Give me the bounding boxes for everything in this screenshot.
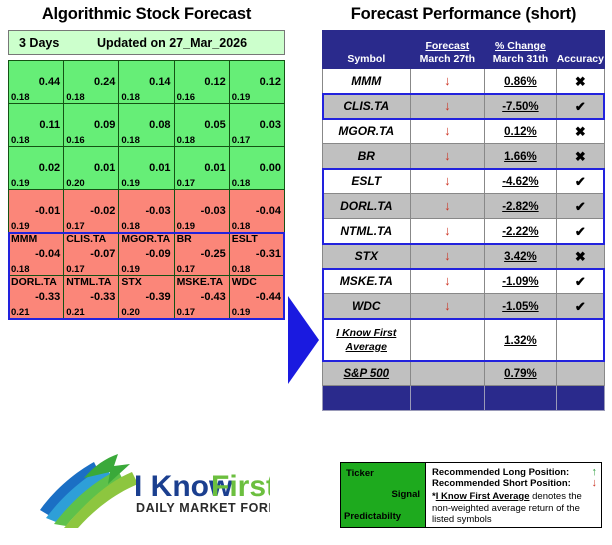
- heatmap-row: 0.110.180.090.160.080.180.050.180.030.17: [9, 104, 285, 147]
- svg-text:DAILY MARKET FORECAST: DAILY MARKET FORECAST: [136, 501, 270, 515]
- cell-predictability: 0.18: [11, 92, 30, 103]
- row-accuracy-icon: ✔: [556, 219, 604, 244]
- cell-predictability: 0.19: [177, 221, 196, 232]
- cell-signal: -0.09: [145, 248, 170, 260]
- row-change: -2.82%: [485, 194, 557, 219]
- heatmap-row: DORL.TA-0.330.21NTML.TA-0.330.21STX-0.39…: [9, 276, 285, 319]
- forecast-down-arrow-icon: ↓: [444, 173, 451, 188]
- cell-predictability: 0.18: [232, 264, 251, 275]
- table-row: DORL.TA↓-2.82%✔: [323, 194, 605, 219]
- cell-predictability: 0.18: [121, 135, 140, 146]
- heatmap-row: -0.010.19-0.020.17-0.030.18-0.030.19-0.0…: [9, 190, 285, 233]
- benchmark-change: 0.79%: [485, 361, 557, 386]
- cell-signal: -0.25: [201, 248, 226, 260]
- row-accuracy-icon: ✖: [556, 144, 604, 169]
- benchmark-row: S&P 5000.79%: [323, 361, 605, 386]
- cell-ticker: DORL.TA: [11, 276, 57, 288]
- table-row: NTML.TA↓-2.22%✔: [323, 219, 605, 244]
- i-know-first-logo: I Know First DAILY MARKET FORECAST: [38, 452, 270, 530]
- heatmap-cell: -0.030.19: [174, 190, 229, 233]
- legend-ticker-label: Ticker: [346, 468, 374, 479]
- cell-predictability: 0.19: [232, 307, 251, 318]
- cell-ticker: NTML.TA: [66, 276, 111, 288]
- heatmap-row: MMM-0.040.18CLIS.TA-0.070.17MGOR.TA-0.09…: [9, 233, 285, 276]
- cell-predictability: 0.17: [177, 264, 196, 275]
- cell-predictability: 0.17: [66, 264, 85, 275]
- row-symbol: BR: [323, 144, 411, 169]
- heatmap-cell: 0.440.18: [9, 61, 64, 104]
- cell-signal: 0.02: [39, 162, 60, 174]
- heatmap-cell: DORL.TA-0.330.21: [9, 276, 64, 319]
- row-change: 3.42%: [485, 244, 557, 269]
- cell-ticker: BR: [177, 233, 192, 245]
- cell-signal: 0.00: [260, 162, 281, 174]
- flow-arrow-icon: [288, 296, 319, 384]
- row-accuracy-icon: ✖: [556, 119, 604, 144]
- row-symbol: NTML.TA: [323, 219, 411, 244]
- row-forecast: ↓: [410, 119, 485, 144]
- table-row: STX↓3.42%✖: [323, 244, 605, 269]
- cell-signal: 0.24: [94, 76, 115, 88]
- benchmark-accuracy: [556, 361, 604, 386]
- heatmap-cell: -0.030.18: [119, 190, 174, 233]
- row-change: 0.12%: [485, 119, 557, 144]
- row-forecast: ↓: [410, 269, 485, 294]
- forecast-performance-panel: Symbol Forecast March 27th % Change Marc…: [322, 30, 605, 411]
- row-forecast: ↓: [410, 244, 485, 269]
- cell-signal: -0.01: [35, 205, 60, 217]
- legend-box: Ticker Signal Predictabilty Recommended …: [340, 462, 602, 528]
- cell-signal: 0.08: [149, 119, 170, 131]
- average-accuracy: [556, 319, 604, 361]
- legend-short-label: Recommended Short Position:: [432, 478, 592, 489]
- cell-predictability: 0.17: [177, 178, 196, 189]
- row-symbol: STX: [323, 244, 411, 269]
- row-forecast: ↓: [410, 144, 485, 169]
- average-change: 1.32%: [485, 319, 557, 361]
- heatmap-cell: 0.120.16: [174, 61, 229, 104]
- cell-signal: -0.31: [256, 248, 281, 260]
- cell-signal: 0.12: [204, 76, 225, 88]
- heatmap-cell: 0.010.19: [119, 147, 174, 190]
- heatmap-cell: 0.030.17: [229, 104, 284, 147]
- cell-predictability: 0.18: [121, 92, 140, 103]
- row-accuracy-icon: ✔: [556, 169, 604, 194]
- row-accuracy-icon: ✔: [556, 94, 604, 119]
- cell-signal: 0.14: [149, 76, 170, 88]
- average-row: I Know FirstAverage1.32%: [323, 319, 605, 361]
- right-panel-title: Forecast Performance (short): [322, 5, 605, 24]
- table-row: MMM↓0.86%✖: [323, 69, 605, 94]
- heatmap-cell: 0.050.18: [174, 104, 229, 147]
- forecast-horizon-label: 3 Days: [9, 36, 97, 50]
- cell-signal: -0.02: [90, 205, 115, 217]
- cell-signal: 0.09: [94, 119, 115, 131]
- legend-predictability-label: Predictabilty: [344, 511, 401, 522]
- row-accuracy-icon: ✔: [556, 269, 604, 294]
- forecast-down-arrow-icon: ↓: [444, 298, 451, 313]
- row-accuracy-icon: ✔: [556, 294, 604, 319]
- cell-ticker: CLIS.TA: [66, 233, 106, 245]
- forecast-down-arrow-icon: ↓: [444, 223, 451, 238]
- cell-predictability: 0.19: [121, 264, 140, 275]
- forecast-down-arrow-icon: ↓: [444, 123, 451, 138]
- heatmap-row: 0.440.180.240.180.140.180.120.160.120.19: [9, 61, 285, 104]
- cell-signal: 0.05: [204, 119, 225, 131]
- cell-signal: 0.12: [260, 76, 281, 88]
- cell-predictability: 0.18: [66, 92, 85, 103]
- cell-signal: 0.44: [39, 76, 60, 88]
- table-header-row: Symbol Forecast March 27th % Change Marc…: [323, 31, 605, 69]
- heatmap-cell: NTML.TA-0.330.21: [64, 276, 119, 319]
- cell-predictability: 0.18: [121, 221, 140, 232]
- row-symbol: MMM: [323, 69, 411, 94]
- row-change: -4.62%: [485, 169, 557, 194]
- cell-predictability: 0.19: [232, 92, 251, 103]
- cell-predictability: 0.17: [177, 307, 196, 318]
- cell-ticker: ESLT: [232, 233, 258, 245]
- row-symbol: ESLT: [323, 169, 411, 194]
- legend-cell-key: Ticker Signal Predictabilty: [341, 463, 426, 527]
- cell-predictability: 0.16: [66, 135, 85, 146]
- cell-predictability: 0.19: [121, 178, 140, 189]
- legend-long-label: Recommended Long Position:: [432, 467, 592, 478]
- cell-predictability: 0.18: [11, 264, 30, 275]
- legend-signal-label: Signal: [391, 489, 420, 500]
- heatmap-cell: 0.000.18: [229, 147, 284, 190]
- row-change: 0.86%: [485, 69, 557, 94]
- cell-signal: -0.04: [35, 248, 60, 260]
- cell-predictability: 0.21: [11, 307, 30, 318]
- heatmap-cell: MGOR.TA-0.090.19: [119, 233, 174, 276]
- header-change: % Change March 31th: [485, 31, 557, 69]
- row-change: 1.66%: [485, 144, 557, 169]
- forecast-down-arrow-icon: ↓: [444, 273, 451, 288]
- row-forecast: ↓: [410, 294, 485, 319]
- cell-predictability: 0.19: [11, 178, 30, 189]
- cell-predictability: 0.17: [66, 221, 85, 232]
- forecast-updated-label: Updated on 27_Mar_2026: [97, 36, 247, 50]
- cell-ticker: WDC: [232, 276, 257, 288]
- row-accuracy-icon: ✖: [556, 69, 604, 94]
- cell-predictability: 0.18: [232, 221, 251, 232]
- benchmark-label: S&P 500: [323, 361, 411, 386]
- header-forecast: Forecast March 27th: [410, 31, 485, 69]
- heatmap-row: 0.020.190.010.200.010.190.010.170.000.18: [9, 147, 285, 190]
- cell-signal: -0.07: [90, 248, 115, 260]
- heatmap-cell: 0.240.18: [64, 61, 119, 104]
- cell-predictability: 0.18: [232, 178, 251, 189]
- cell-predictability: 0.18: [177, 135, 196, 146]
- row-forecast: ↓: [410, 169, 485, 194]
- forecast-down-arrow-icon: ↓: [444, 98, 451, 113]
- heatmap-cell: WDC-0.440.19: [229, 276, 284, 319]
- down-arrow-icon: ↓: [592, 478, 598, 489]
- heatmap-cell: STX-0.390.20: [119, 276, 174, 319]
- heatmap-cell: 0.080.18: [119, 104, 174, 147]
- cell-predictability: 0.17: [232, 135, 251, 146]
- forecast-heatmap-table: 0.440.180.240.180.140.180.120.160.120.19…: [8, 60, 285, 319]
- row-accuracy-icon: ✖: [556, 244, 604, 269]
- row-forecast: ↓: [410, 94, 485, 119]
- row-change: -7.50%: [485, 94, 557, 119]
- performance-table: Symbol Forecast March 27th % Change Marc…: [322, 30, 605, 411]
- average-forecast: [410, 319, 485, 361]
- cell-signal: -0.44: [256, 291, 281, 303]
- heatmap-cell: 0.010.20: [64, 147, 119, 190]
- legend-footnote-term: I Know First Average: [436, 491, 530, 502]
- cell-ticker: MGOR.TA: [121, 233, 170, 245]
- cell-predictability: 0.21: [66, 307, 85, 318]
- cell-predictability: 0.18: [11, 135, 30, 146]
- heatmap-cell: 0.120.19: [229, 61, 284, 104]
- heatmap-cell: 0.010.17: [174, 147, 229, 190]
- heatmap-cell: -0.020.17: [64, 190, 119, 233]
- legend-footnote: *I Know First Average denotes the non-we…: [432, 491, 597, 526]
- row-symbol: MSKE.TA: [323, 269, 411, 294]
- cell-signal: -0.03: [145, 205, 170, 217]
- forecast-down-arrow-icon: ↓: [444, 148, 451, 163]
- heatmap-cell: MSKE.TA-0.430.17: [174, 276, 229, 319]
- heatmap-cell: -0.010.19: [9, 190, 64, 233]
- heatmap-cell: 0.020.19: [9, 147, 64, 190]
- cell-signal: 0.11: [39, 119, 60, 131]
- cell-signal: -0.39: [145, 291, 170, 303]
- cell-signal: 0.01: [149, 162, 170, 174]
- row-forecast: ↓: [410, 194, 485, 219]
- average-label: I Know FirstAverage: [323, 319, 411, 361]
- row-change: -1.05%: [485, 294, 557, 319]
- header-symbol: Symbol: [323, 31, 411, 69]
- benchmark-forecast: [410, 361, 485, 386]
- row-forecast: ↓: [410, 219, 485, 244]
- header-accuracy: Accuracy: [556, 31, 604, 69]
- table-footer-band: [323, 386, 605, 411]
- cell-predictability: 0.16: [177, 92, 196, 103]
- cell-signal: -0.33: [90, 291, 115, 303]
- table-row: MGOR.TA↓0.12%✖: [323, 119, 605, 144]
- cell-predictability: 0.20: [121, 307, 140, 318]
- cell-ticker: STX: [121, 276, 141, 288]
- cell-signal: 0.03: [260, 119, 281, 131]
- cell-signal: 0.01: [204, 162, 225, 174]
- table-row: ESLT↓-4.62%✔: [323, 169, 605, 194]
- heatmap-cell: MMM-0.040.18: [9, 233, 64, 276]
- cell-predictability: 0.19: [11, 221, 30, 232]
- row-symbol: DORL.TA: [323, 194, 411, 219]
- row-change: -1.09%: [485, 269, 557, 294]
- cell-signal: -0.03: [201, 205, 226, 217]
- algorithmic-stock-forecast-panel: 3 Days Updated on 27_Mar_2026 0.440.180.…: [8, 30, 285, 319]
- heatmap-cell: 0.090.16: [64, 104, 119, 147]
- heatmap-cell: -0.040.18: [229, 190, 284, 233]
- cell-predictability: 0.20: [66, 178, 85, 189]
- cell-signal: -0.33: [35, 291, 60, 303]
- row-accuracy-icon: ✔: [556, 194, 604, 219]
- table-row: MSKE.TA↓-1.09%✔: [323, 269, 605, 294]
- row-symbol: MGOR.TA: [323, 119, 411, 144]
- row-symbol: CLIS.TA: [323, 94, 411, 119]
- cell-ticker: MMM: [11, 233, 37, 245]
- legend-short-row: Recommended Short Position: ↓: [432, 478, 597, 489]
- table-row: CLIS.TA↓-7.50%✔: [323, 94, 605, 119]
- cell-ticker: MSKE.TA: [177, 276, 223, 288]
- table-row: WDC↓-1.05%✔: [323, 294, 605, 319]
- legend-description: Recommended Long Position: ↑ Recommended…: [426, 463, 601, 527]
- cell-signal: -0.04: [256, 205, 281, 217]
- forecast-down-arrow-icon: ↓: [444, 198, 451, 213]
- cell-signal: -0.43: [201, 291, 226, 303]
- heatmap-cell: ESLT-0.310.18: [229, 233, 284, 276]
- left-panel-title: Algorithmic Stock Forecast: [8, 5, 285, 24]
- row-symbol: WDC: [323, 294, 411, 319]
- heatmap-cell: CLIS.TA-0.070.17: [64, 233, 119, 276]
- table-row: BR↓1.66%✖: [323, 144, 605, 169]
- heatmap-cell: BR-0.250.17: [174, 233, 229, 276]
- forecast-down-arrow-icon: ↓: [444, 73, 451, 88]
- heatmap-cell: 0.110.18: [9, 104, 64, 147]
- legend-long-row: Recommended Long Position: ↑: [432, 467, 597, 478]
- row-change: -2.22%: [485, 219, 557, 244]
- cell-signal: 0.01: [94, 162, 115, 174]
- row-forecast: ↓: [410, 69, 485, 94]
- heatmap-cell: 0.140.18: [119, 61, 174, 104]
- forecast-down-arrow-icon: ↓: [444, 248, 451, 263]
- forecast-header-bar: 3 Days Updated on 27_Mar_2026: [8, 30, 285, 55]
- svg-text:First: First: [211, 470, 270, 503]
